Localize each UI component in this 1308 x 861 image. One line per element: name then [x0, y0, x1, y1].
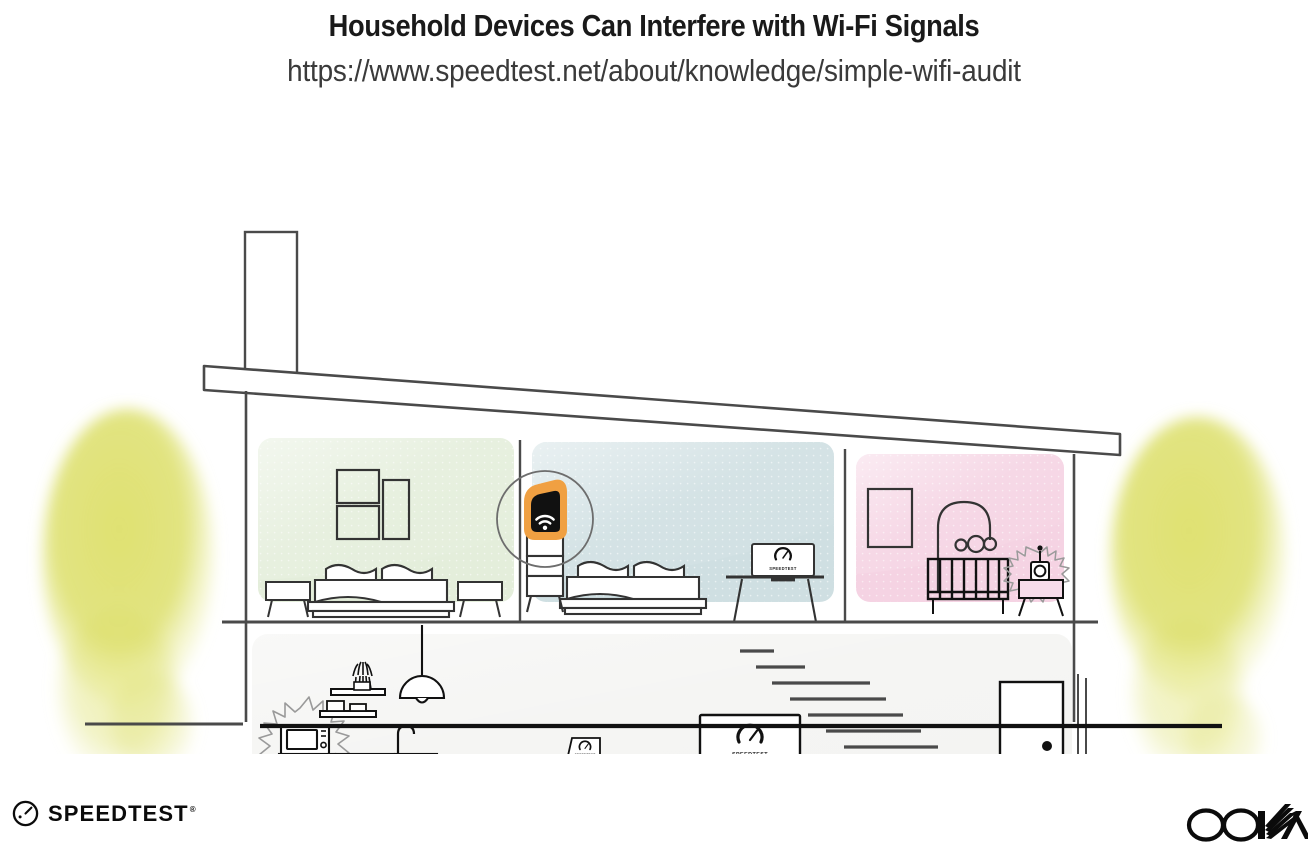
- television: SPEEDTEST: [700, 715, 800, 754]
- footer: SPEEDTEST® ®: [0, 780, 1308, 861]
- nightstand-left-green: [266, 582, 310, 617]
- monitor-blue: SPEEDTEST: [752, 544, 814, 581]
- page-title: Household Devices Can Interfere with Wi-…: [78, 0, 1229, 44]
- monitor-screen-label: SPEEDTEST: [769, 566, 797, 571]
- foliage-left: [42, 409, 214, 754]
- bed-blue: [560, 562, 706, 614]
- nightstand-nursery: [1019, 580, 1063, 616]
- bed-green: [308, 565, 454, 617]
- header: Household Devices Can Interfere with Wi-…: [0, 0, 1308, 89]
- speedtest-trademark: ®: [190, 805, 197, 814]
- microwave: [281, 725, 329, 754]
- room-blue-bedroom: SPEEDTEST: [497, 442, 834, 622]
- nightstand-right-green: [458, 582, 502, 617]
- chimney: [245, 232, 297, 384]
- speedtest-gauge-icon: [12, 800, 39, 827]
- room-green-bedroom: [258, 438, 514, 617]
- ookla-logo: ®: [1184, 804, 1308, 851]
- infographic-page: Household Devices Can Interfere with Wi-…: [0, 0, 1308, 861]
- laptop-screen-label: SPEEDTEST: [575, 753, 596, 754]
- tv-screen-label: SPEEDTEST: [732, 752, 768, 754]
- foliage-right: [1110, 417, 1286, 754]
- front-door[interactable]: [1000, 682, 1063, 754]
- room-pink-nursery: [856, 454, 1069, 616]
- door-knob[interactable]: [1042, 741, 1052, 751]
- door-sidelight: [1078, 674, 1086, 754]
- speedtest-logo: SPEEDTEST®: [12, 800, 197, 827]
- speedtest-wordmark: SPEEDTEST®: [48, 801, 197, 827]
- source-url: https://www.speedtest.net/about/knowledg…: [65, 44, 1242, 89]
- speedtest-wordmark-text: SPEEDTEST: [48, 801, 189, 826]
- wifi-router[interactable]: [528, 484, 563, 536]
- house-illustration: SPEEDTEST: [0, 104, 1308, 754]
